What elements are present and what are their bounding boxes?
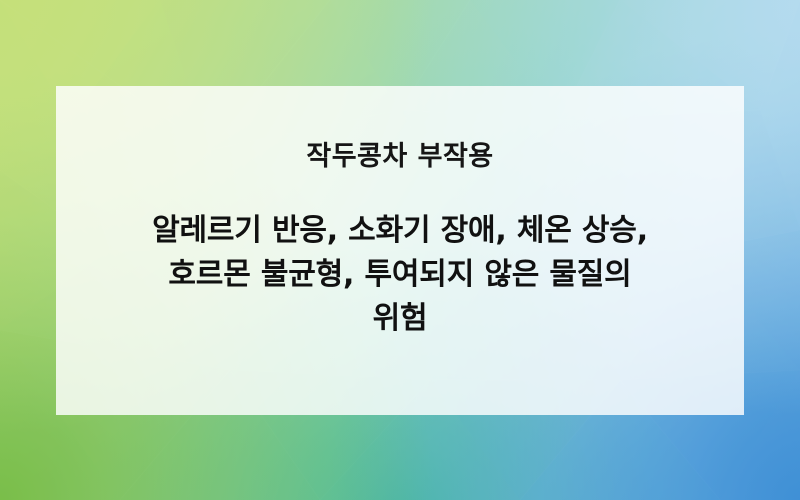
content-card: 작두콩차 부작용 알레르기 반응, 소화기 장애, 체온 상승, 호르몬 불균형… xyxy=(56,86,744,415)
body-text-block: 알레르기 반응, 소화기 장애, 체온 상승, 호르몬 불균형, 투여되지 않은… xyxy=(56,209,744,341)
page-title: 작두콩차 부작용 xyxy=(56,141,744,173)
body-line-2: 호르몬 불균형, 투여되지 않은 물질의 xyxy=(70,253,730,297)
body-line-3: 위험 xyxy=(70,297,730,341)
poster-container: 작두콩차 부작용 알레르기 반응, 소화기 장애, 체온 상승, 호르몬 불균형… xyxy=(0,0,800,500)
body-line-1: 알레르기 반응, 소화기 장애, 체온 상승, xyxy=(70,209,730,253)
